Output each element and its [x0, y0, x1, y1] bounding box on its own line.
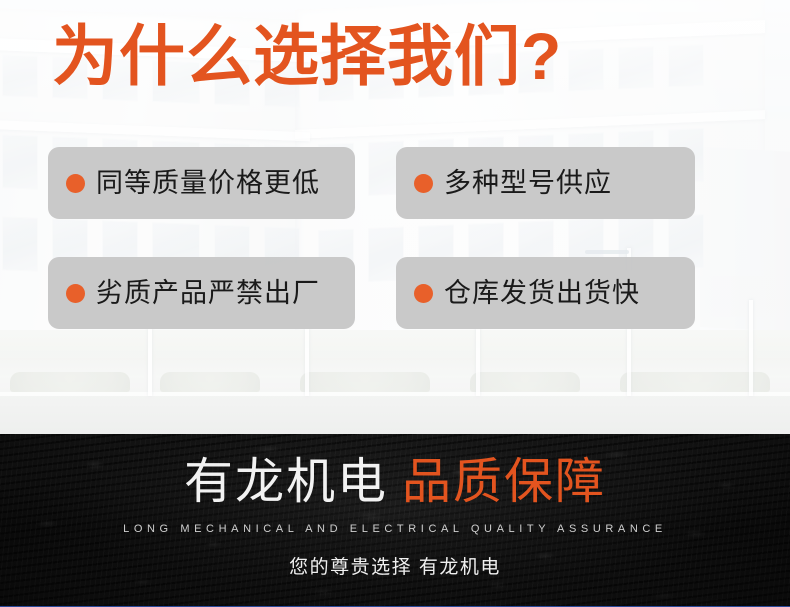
brand-title-line: 有龙机电品质保障 [0, 457, 790, 506]
brand-slogan: 您的尊贵选择 有龙机电 [0, 552, 790, 579]
brand-banner: 有龙机电品质保障 LONG MECHANICAL AND ELECTRICAL … [0, 434, 790, 606]
feature-label: 多种型号供应 [444, 170, 612, 197]
feature-label: 劣质产品严禁出厂 [96, 280, 320, 307]
feature-row-1: 同等质量价格更低 多种型号供应 [0, 147, 790, 219]
feature-item-4[interactable]: 仓库发货出货快 [396, 257, 695, 329]
promo-banner-page: 为什么选择我们? 同等质量价格更低 多种型号供应 劣质产品严禁出厂 [0, 0, 790, 607]
feature-item-3[interactable]: 劣质产品严禁出厂 [48, 257, 355, 329]
feature-label: 仓库发货出货快 [444, 280, 640, 307]
bullet-dot-icon [414, 284, 433, 303]
feature-item-1[interactable]: 同等质量价格更低 [48, 147, 355, 219]
feature-item-2[interactable]: 多种型号供应 [396, 147, 695, 219]
bullet-dot-icon [66, 284, 85, 303]
english-tagline: LONG MECHANICAL AND ELECTRICAL QUALITY A… [0, 523, 790, 535]
feature-row-2: 劣质产品严禁出厂 仓库发货出货快 [0, 257, 790, 329]
feature-label: 同等质量价格更低 [96, 170, 320, 197]
brand-name: 有龙机电 [184, 454, 388, 509]
bullet-dot-icon [414, 174, 433, 193]
page-title: 为什么选择我们? [52, 23, 562, 89]
brand-accent-text: 品质保障 [402, 454, 606, 509]
hero-photo-section: 为什么选择我们? 同等质量价格更低 多种型号供应 劣质产品严禁出厂 [0, 0, 790, 434]
bullet-dot-icon [66, 174, 85, 193]
